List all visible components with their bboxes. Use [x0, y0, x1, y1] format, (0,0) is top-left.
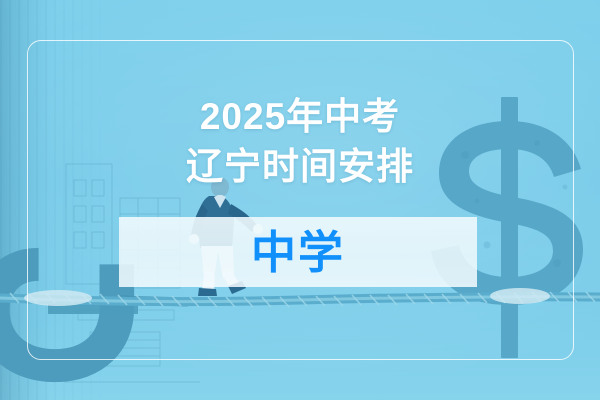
category-label-bar: 中学 [119, 217, 477, 287]
page-title-line-2: 辽宁时间安排 [0, 142, 600, 192]
page-title: 2025年中考 辽宁时间安排 [0, 92, 600, 192]
category-label-text: 中学 [251, 230, 345, 275]
page-title-line-1: 2025年中考 [0, 92, 600, 142]
poster-canvas: 2025年中考 辽宁时间安排 中学 [0, 0, 600, 400]
